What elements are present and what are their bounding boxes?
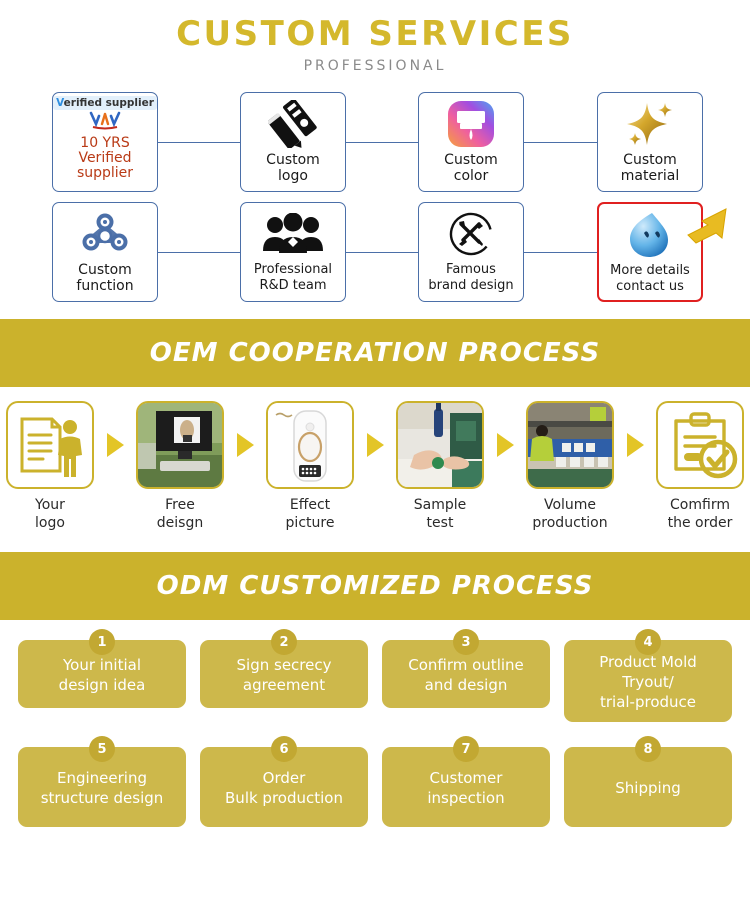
arrow-right-icon [98, 401, 132, 489]
connector-line [523, 142, 597, 143]
service-box-custom-function[interactable]: Custom function [52, 202, 158, 302]
step-number-badge: 4 [635, 629, 661, 655]
odm-step-5[interactable]: 5 Engineering structure design [18, 747, 186, 827]
oem-banner-text: OEM COOPERATION PROCESS [150, 338, 600, 368]
service-label: Famous brand design [428, 262, 513, 294]
oem-caption: Comfirm the order [652, 496, 748, 532]
oem-step-free-design[interactable]: Free deisgn [132, 401, 228, 532]
oem-caption: Your logo [2, 496, 98, 532]
page-title: CUSTOM SERVICES [0, 14, 750, 54]
trademanager-droplet-icon [622, 207, 678, 263]
verified-ribbon-text: erified supplier [64, 97, 154, 109]
service-label: More details contact us [610, 263, 690, 295]
step-number-badge: 6 [271, 736, 297, 762]
service-box-custom-color[interactable]: Custom color [418, 92, 524, 192]
oem-caption: Effect picture [262, 496, 358, 532]
team-people-icon [262, 206, 324, 262]
verified-label-2: supplier [77, 166, 133, 181]
service-box-rd-team[interactable]: Professional R&D team [240, 202, 346, 302]
oem-process-row: Your logo Free deisgn [0, 387, 750, 552]
service-box-brand-design[interactable]: Famous brand design [418, 202, 524, 302]
oem-step-effect-picture[interactable]: Effect picture [262, 401, 358, 532]
arrow-right-icon [358, 401, 392, 489]
connector-line [345, 252, 418, 253]
odm-row-1: 1 Your initial design idea 2 Sign secrec… [18, 640, 732, 722]
connector-line [157, 142, 242, 143]
sample-test-photo [396, 401, 484, 489]
odm-row-2: 5 Engineering structure design 6 Order B… [18, 747, 732, 827]
arrow-right-icon [228, 401, 262, 489]
service-box-custom-logo[interactable]: Custom logo [240, 92, 346, 192]
tools-circle-icon [446, 206, 496, 262]
monitor-design-photo [136, 401, 224, 489]
odm-step-1[interactable]: 1 Your initial design idea [18, 640, 186, 722]
step-number-badge: 8 [635, 736, 661, 762]
odm-step-2[interactable]: 2 Sign secrecy agreement [200, 640, 368, 722]
odm-step-7[interactable]: 7 Customer inspection [382, 747, 550, 827]
oem-step-confirm-order[interactable]: Comfirm the order [652, 401, 748, 532]
services-row-1: Verified supplier 10 YRS Verified suppli… [0, 92, 750, 192]
document-person-icon [6, 401, 94, 489]
oem-step-volume-production[interactable]: Volume production [522, 401, 618, 532]
service-label: Custom function [76, 262, 133, 294]
custom-services-grid: Verified supplier 10 YRS Verified suppli… [0, 84, 750, 319]
services-row-2: Custom function Professional R&D team [0, 202, 750, 302]
step-number-badge: 7 [453, 736, 479, 762]
odm-step-3[interactable]: 3 Confirm outline and design [382, 640, 550, 722]
oem-banner: OEM COOPERATION PROCESS [0, 319, 750, 387]
arrow-right-icon [618, 401, 652, 489]
step-number-badge: 5 [89, 736, 115, 762]
oem-caption: Free deisgn [132, 496, 228, 532]
step-number-badge: 2 [271, 629, 297, 655]
service-label: Professional R&D team [254, 262, 332, 294]
page-subtitle: PROFESSIONAL [0, 58, 750, 74]
connector-line [523, 252, 597, 253]
clipboard-check-icon [656, 401, 744, 489]
ipl-device-photo [266, 401, 354, 489]
oem-caption: Sample test [392, 496, 488, 532]
verified-years: 10 YRS [80, 136, 129, 151]
odm-banner-text: ODM CUSTOMIZED PROCESS [157, 571, 594, 601]
arrow-right-icon [488, 401, 522, 489]
service-box-verified-supplier[interactable]: Verified supplier 10 YRS Verified suppli… [52, 92, 158, 192]
odm-step-6[interactable]: 6 Order Bulk production [200, 747, 368, 827]
odm-banner: ODM CUSTOMIZED PROCESS [0, 552, 750, 620]
oem-caption: Volume production [522, 496, 618, 532]
verified-initial: V [56, 97, 64, 109]
service-label: Custom color [444, 152, 498, 184]
page-header: CUSTOM SERVICES PROFESSIONAL [0, 0, 750, 74]
service-box-custom-material[interactable]: Custom material [597, 92, 703, 192]
odm-process-grid: 1 Your initial design idea 2 Sign secrec… [0, 620, 750, 827]
oem-step-your-logo[interactable]: Your logo [2, 401, 98, 532]
sparkle-icon [623, 96, 677, 152]
odm-step-4[interactable]: 4 Product Mold Tryout/ trial-produce [564, 640, 732, 722]
production-line-photo [526, 401, 614, 489]
connector-line [345, 142, 418, 143]
yellow-arrow-icon [672, 205, 728, 254]
service-label: Custom logo [266, 152, 320, 184]
step-number-badge: 3 [453, 629, 479, 655]
verified-supplier-ribbon: Verified supplier [53, 96, 157, 110]
verified-label-1: Verified [78, 151, 131, 166]
alibaba-w-logo-icon [88, 111, 122, 136]
pencil-ruler-icon [268, 96, 318, 152]
paint-brush-icon [446, 96, 496, 152]
connector-line [157, 252, 242, 253]
fidget-spinner-icon [79, 206, 131, 262]
odm-step-8[interactable]: 8 Shipping [564, 747, 732, 827]
oem-step-sample-test[interactable]: Sample test [392, 401, 488, 532]
service-label: Custom material [621, 152, 679, 184]
step-number-badge: 1 [89, 629, 115, 655]
